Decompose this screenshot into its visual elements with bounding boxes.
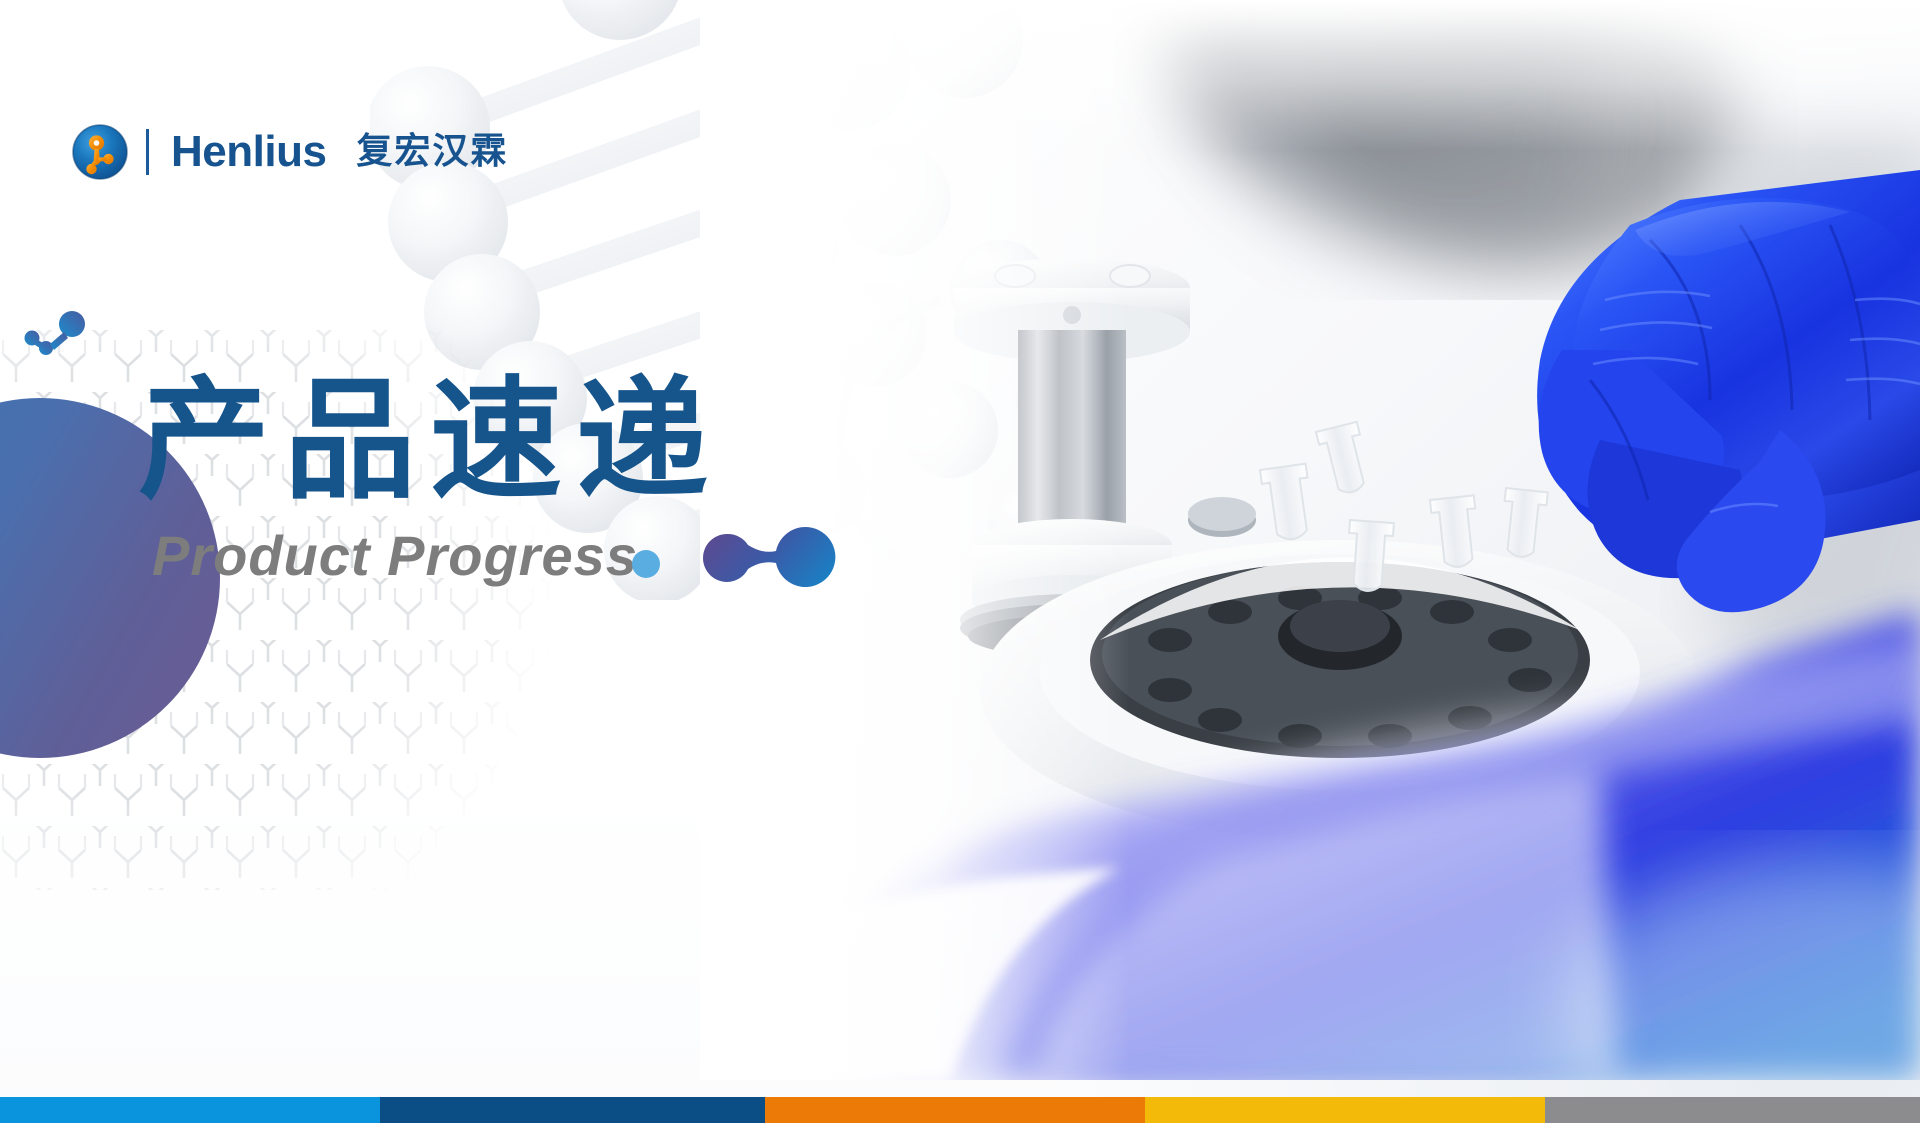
accent-dot <box>632 550 660 578</box>
logo-wordmark: Henlius <box>171 130 326 174</box>
henlius-logo-mark <box>72 124 128 180</box>
page-subtitle: Product Progress <box>152 528 638 584</box>
colorbar-segment-gray <box>1545 1097 1920 1123</box>
bottom-color-bar <box>0 1097 1920 1123</box>
henlius-logo[interactable]: Henlius 复宏汉霖 <box>72 124 508 180</box>
laboratory-centrifuge-photo <box>700 0 1920 1080</box>
colorbar-segment-orange <box>765 1097 1145 1123</box>
logo-chinese-name: 复宏汉霖 <box>356 134 508 170</box>
molecule-accent-large <box>698 524 848 600</box>
slide-root: Henlius 复宏汉霖 产品速递 Product Progress <box>0 0 1920 1123</box>
logo-divider <box>146 129 149 175</box>
colorbar-segment-yellow <box>1145 1097 1545 1123</box>
colorbar-segment-dark-blue <box>380 1097 765 1123</box>
colorbar-segment-light-blue <box>0 1097 380 1123</box>
page-title: 产品速递 <box>138 372 722 511</box>
molecule-accent-small <box>24 310 94 362</box>
